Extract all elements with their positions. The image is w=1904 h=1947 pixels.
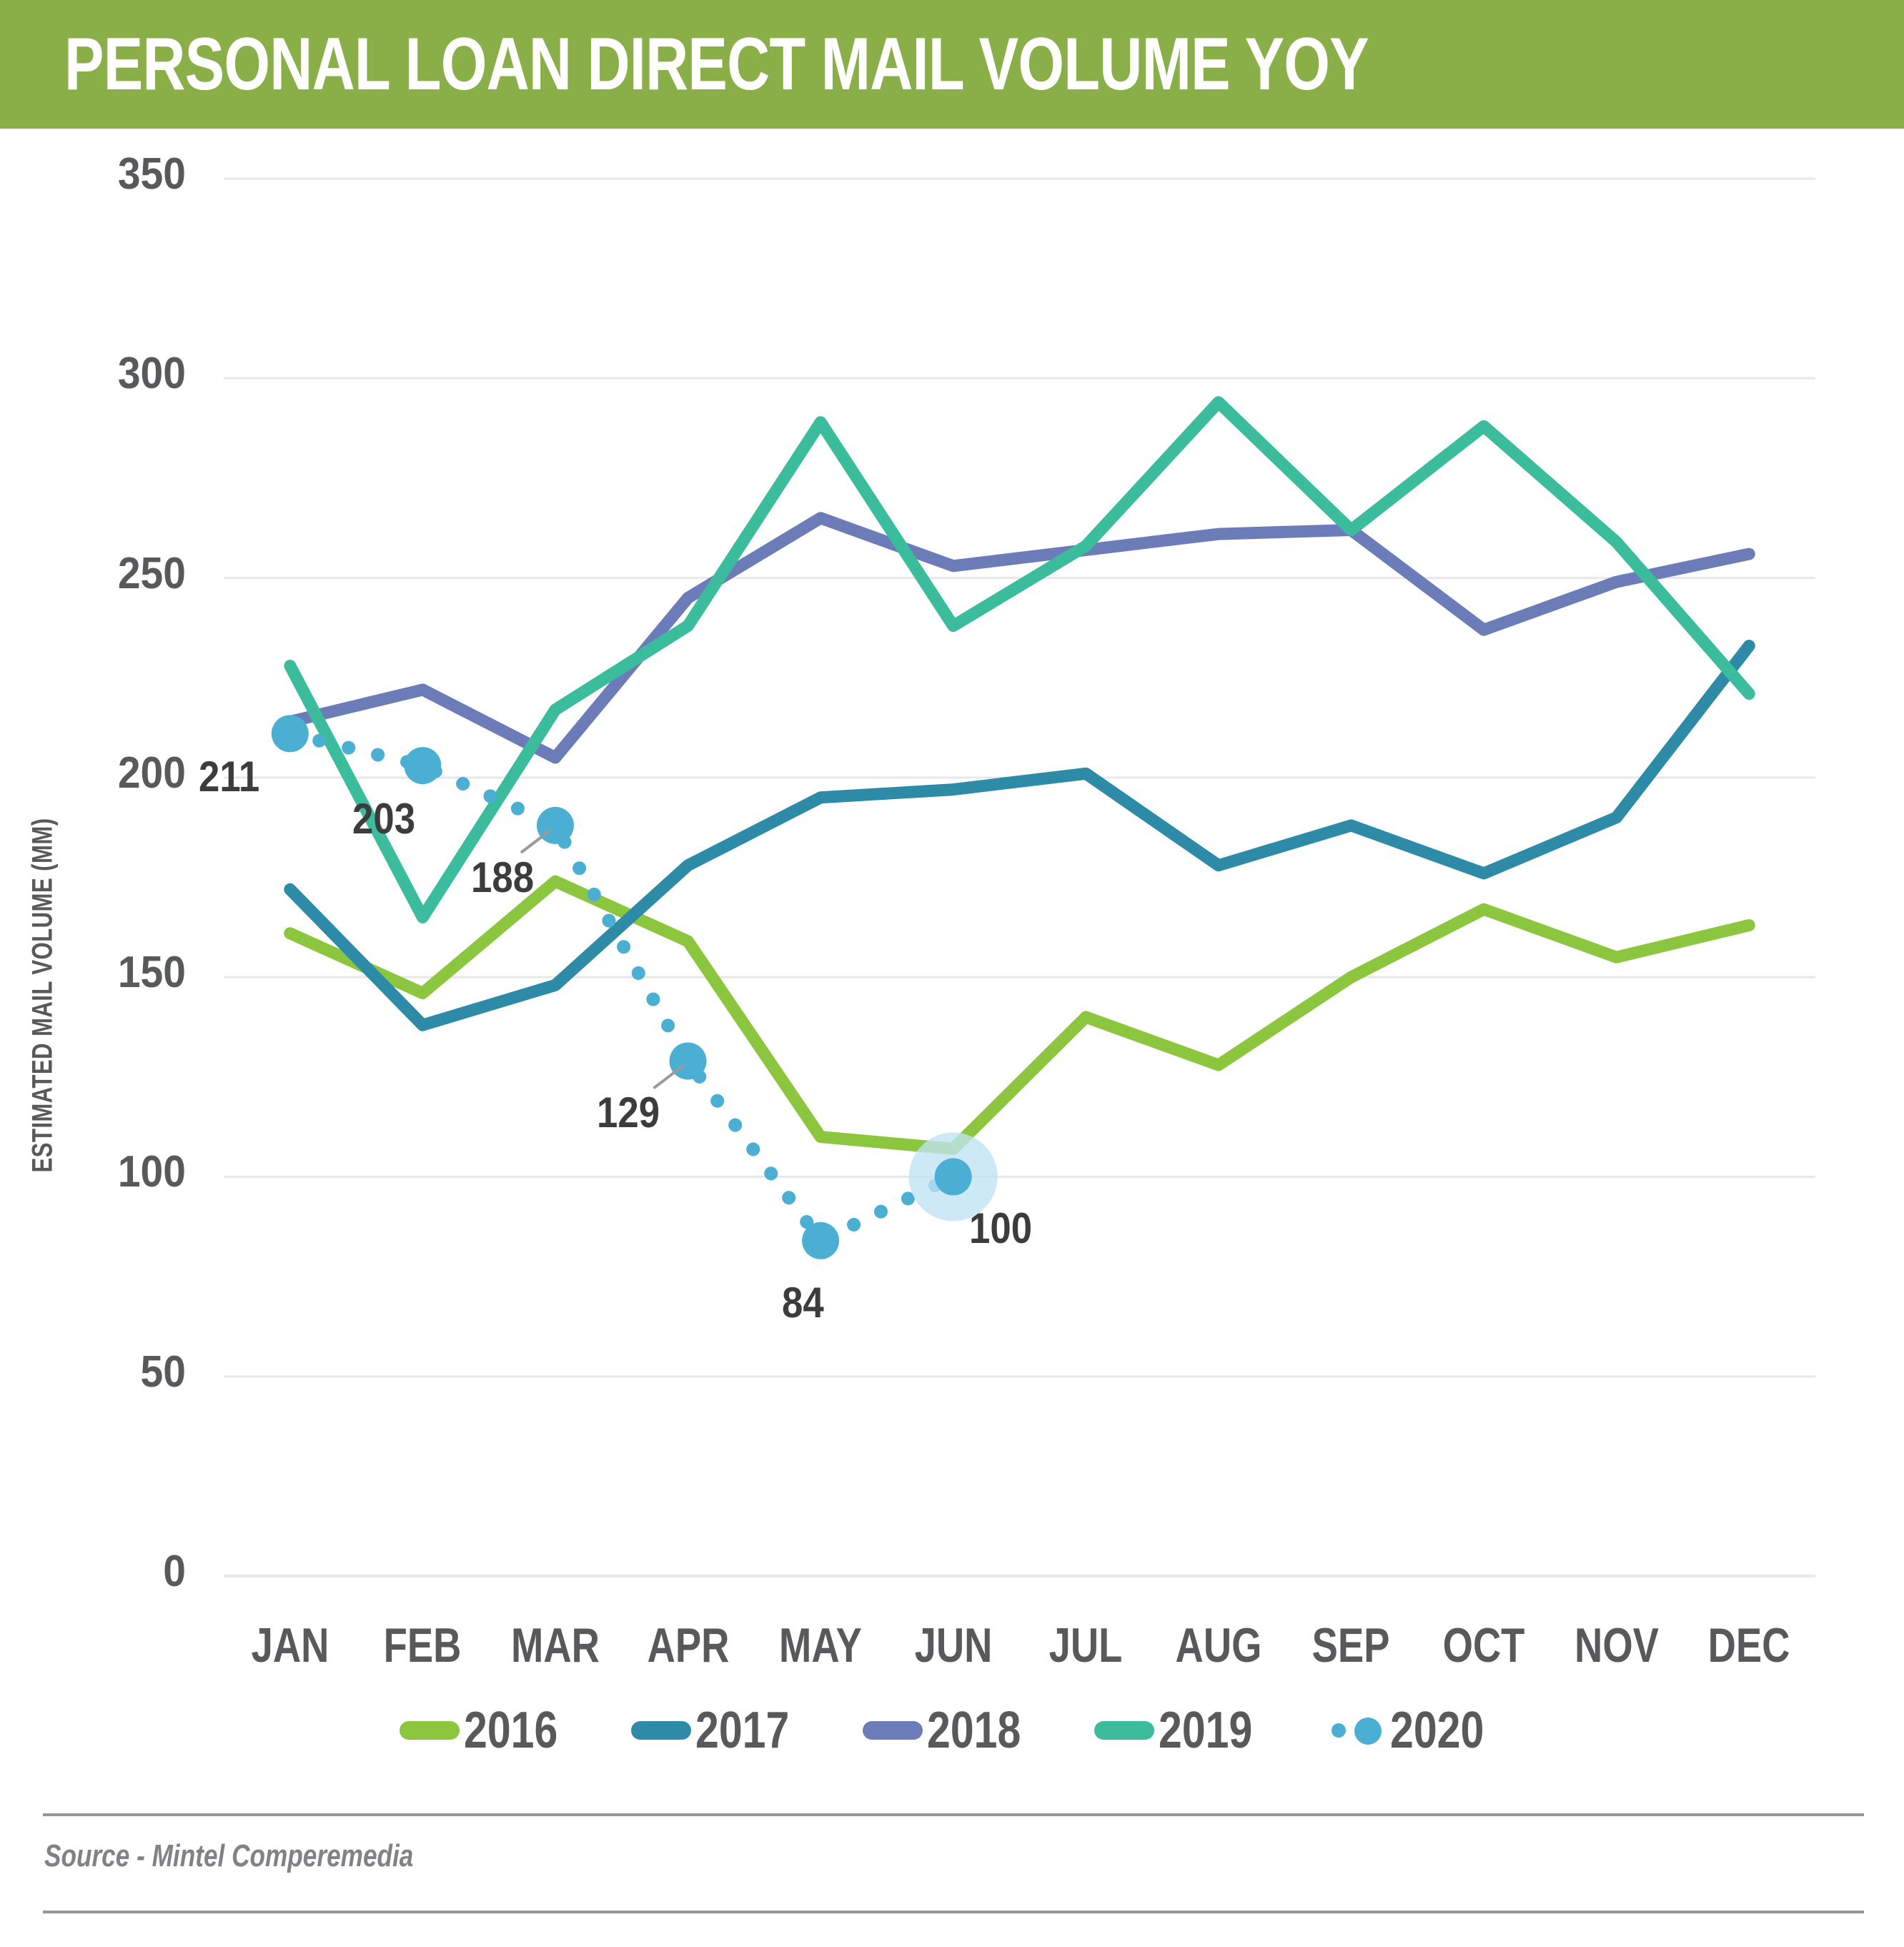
legend-item-2019[interactable]: 2019 xyxy=(1094,1701,1273,1760)
x-tick-jul: JUL xyxy=(1017,1617,1154,1673)
x-tick-aug: AUG xyxy=(1150,1617,1287,1673)
legend-item-2020[interactable]: 2020 xyxy=(1326,1701,1504,1760)
line-chart-svg xyxy=(0,129,1904,1687)
y-tick-50: 50 xyxy=(34,1347,186,1397)
legend-label: 2016 xyxy=(464,1701,557,1760)
x-tick-may: MAY xyxy=(752,1617,889,1673)
legend-label: 2018 xyxy=(927,1701,1021,1760)
x-tick-mar: MAR xyxy=(487,1617,624,1673)
data-label-apr: 129 xyxy=(597,1088,660,1137)
x-tick-oct: OCT xyxy=(1415,1617,1552,1673)
marker-2020-JUN xyxy=(935,1158,972,1195)
legend-item-2018[interactable]: 2018 xyxy=(863,1701,1041,1760)
x-tick-jan: JAN xyxy=(222,1617,359,1673)
legend-swatch-dotted-icon xyxy=(1326,1718,1386,1743)
y-tick-200: 200 xyxy=(34,748,186,798)
series-line-2016 xyxy=(290,881,1749,1149)
legend-item-2017[interactable]: 2017 xyxy=(631,1701,810,1760)
data-label-mar: 188 xyxy=(471,853,534,902)
marker-2020-MAY xyxy=(802,1222,839,1259)
legend-label: 2017 xyxy=(695,1701,789,1760)
legend-swatch-line-icon xyxy=(400,1721,460,1740)
gridlines-group xyxy=(224,179,1815,1576)
series-line-2019 xyxy=(290,402,1749,918)
legend-item-2016[interactable]: 2016 xyxy=(400,1701,578,1760)
x-tick-nov: NOV xyxy=(1548,1617,1685,1673)
series-line-2017 xyxy=(290,646,1749,1026)
chart-legend: 20162017201820192020 xyxy=(0,1701,1904,1760)
title-banner: PERSONAL LOAN DIRECT MAIL VOLUME YOY xyxy=(0,0,1904,129)
y-tick-100: 100 xyxy=(34,1146,186,1197)
legend-swatch-line-icon xyxy=(863,1721,923,1740)
x-tick-dec: DEC xyxy=(1680,1617,1818,1673)
x-tick-jun: JUN xyxy=(885,1617,1022,1673)
marker-2020-MAR xyxy=(537,807,574,844)
chart-plot-area: ESTIMATED MAIL VOLUME (MM) 0501001502002… xyxy=(0,129,1904,1687)
source-note: Source - Mintel Comperemedia xyxy=(44,1838,413,1874)
footer-divider-bottom xyxy=(43,1911,1864,1913)
chart-page: PERSONAL LOAN DIRECT MAIL VOLUME YOY EST… xyxy=(0,0,1904,1947)
data-label-jan: 211 xyxy=(199,752,259,801)
leader-lines-group xyxy=(521,830,684,1089)
x-tick-sep: SEP xyxy=(1282,1617,1419,1673)
legend-label: 2019 xyxy=(1159,1701,1252,1760)
page-title: PERSONAL LOAN DIRECT MAIL VOLUME YOY xyxy=(64,20,1369,109)
marker-2020-FEB xyxy=(404,747,441,784)
marker-2020-APR xyxy=(670,1042,707,1079)
y-tick-300: 300 xyxy=(34,348,186,399)
x-tick-apr: APR xyxy=(620,1617,757,1673)
data-label-may: 84 xyxy=(782,1278,824,1327)
legend-swatch-line-icon xyxy=(1094,1721,1154,1740)
series-line-2018 xyxy=(290,518,1749,758)
footer-divider-top xyxy=(43,1813,1864,1816)
data-label-feb: 203 xyxy=(352,794,415,843)
legend-label: 2020 xyxy=(1390,1701,1484,1760)
y-tick-250: 250 xyxy=(34,548,186,599)
marker-2020-JAN xyxy=(272,715,309,752)
y-tick-150: 150 xyxy=(34,947,186,998)
y-tick-350: 350 xyxy=(34,149,186,199)
data-label-jun: 100 xyxy=(969,1204,1032,1253)
series-group xyxy=(290,402,1749,1241)
y-tick-0: 0 xyxy=(34,1546,186,1597)
legend-swatch-line-icon xyxy=(631,1721,691,1740)
x-tick-feb: FEB xyxy=(354,1617,491,1673)
